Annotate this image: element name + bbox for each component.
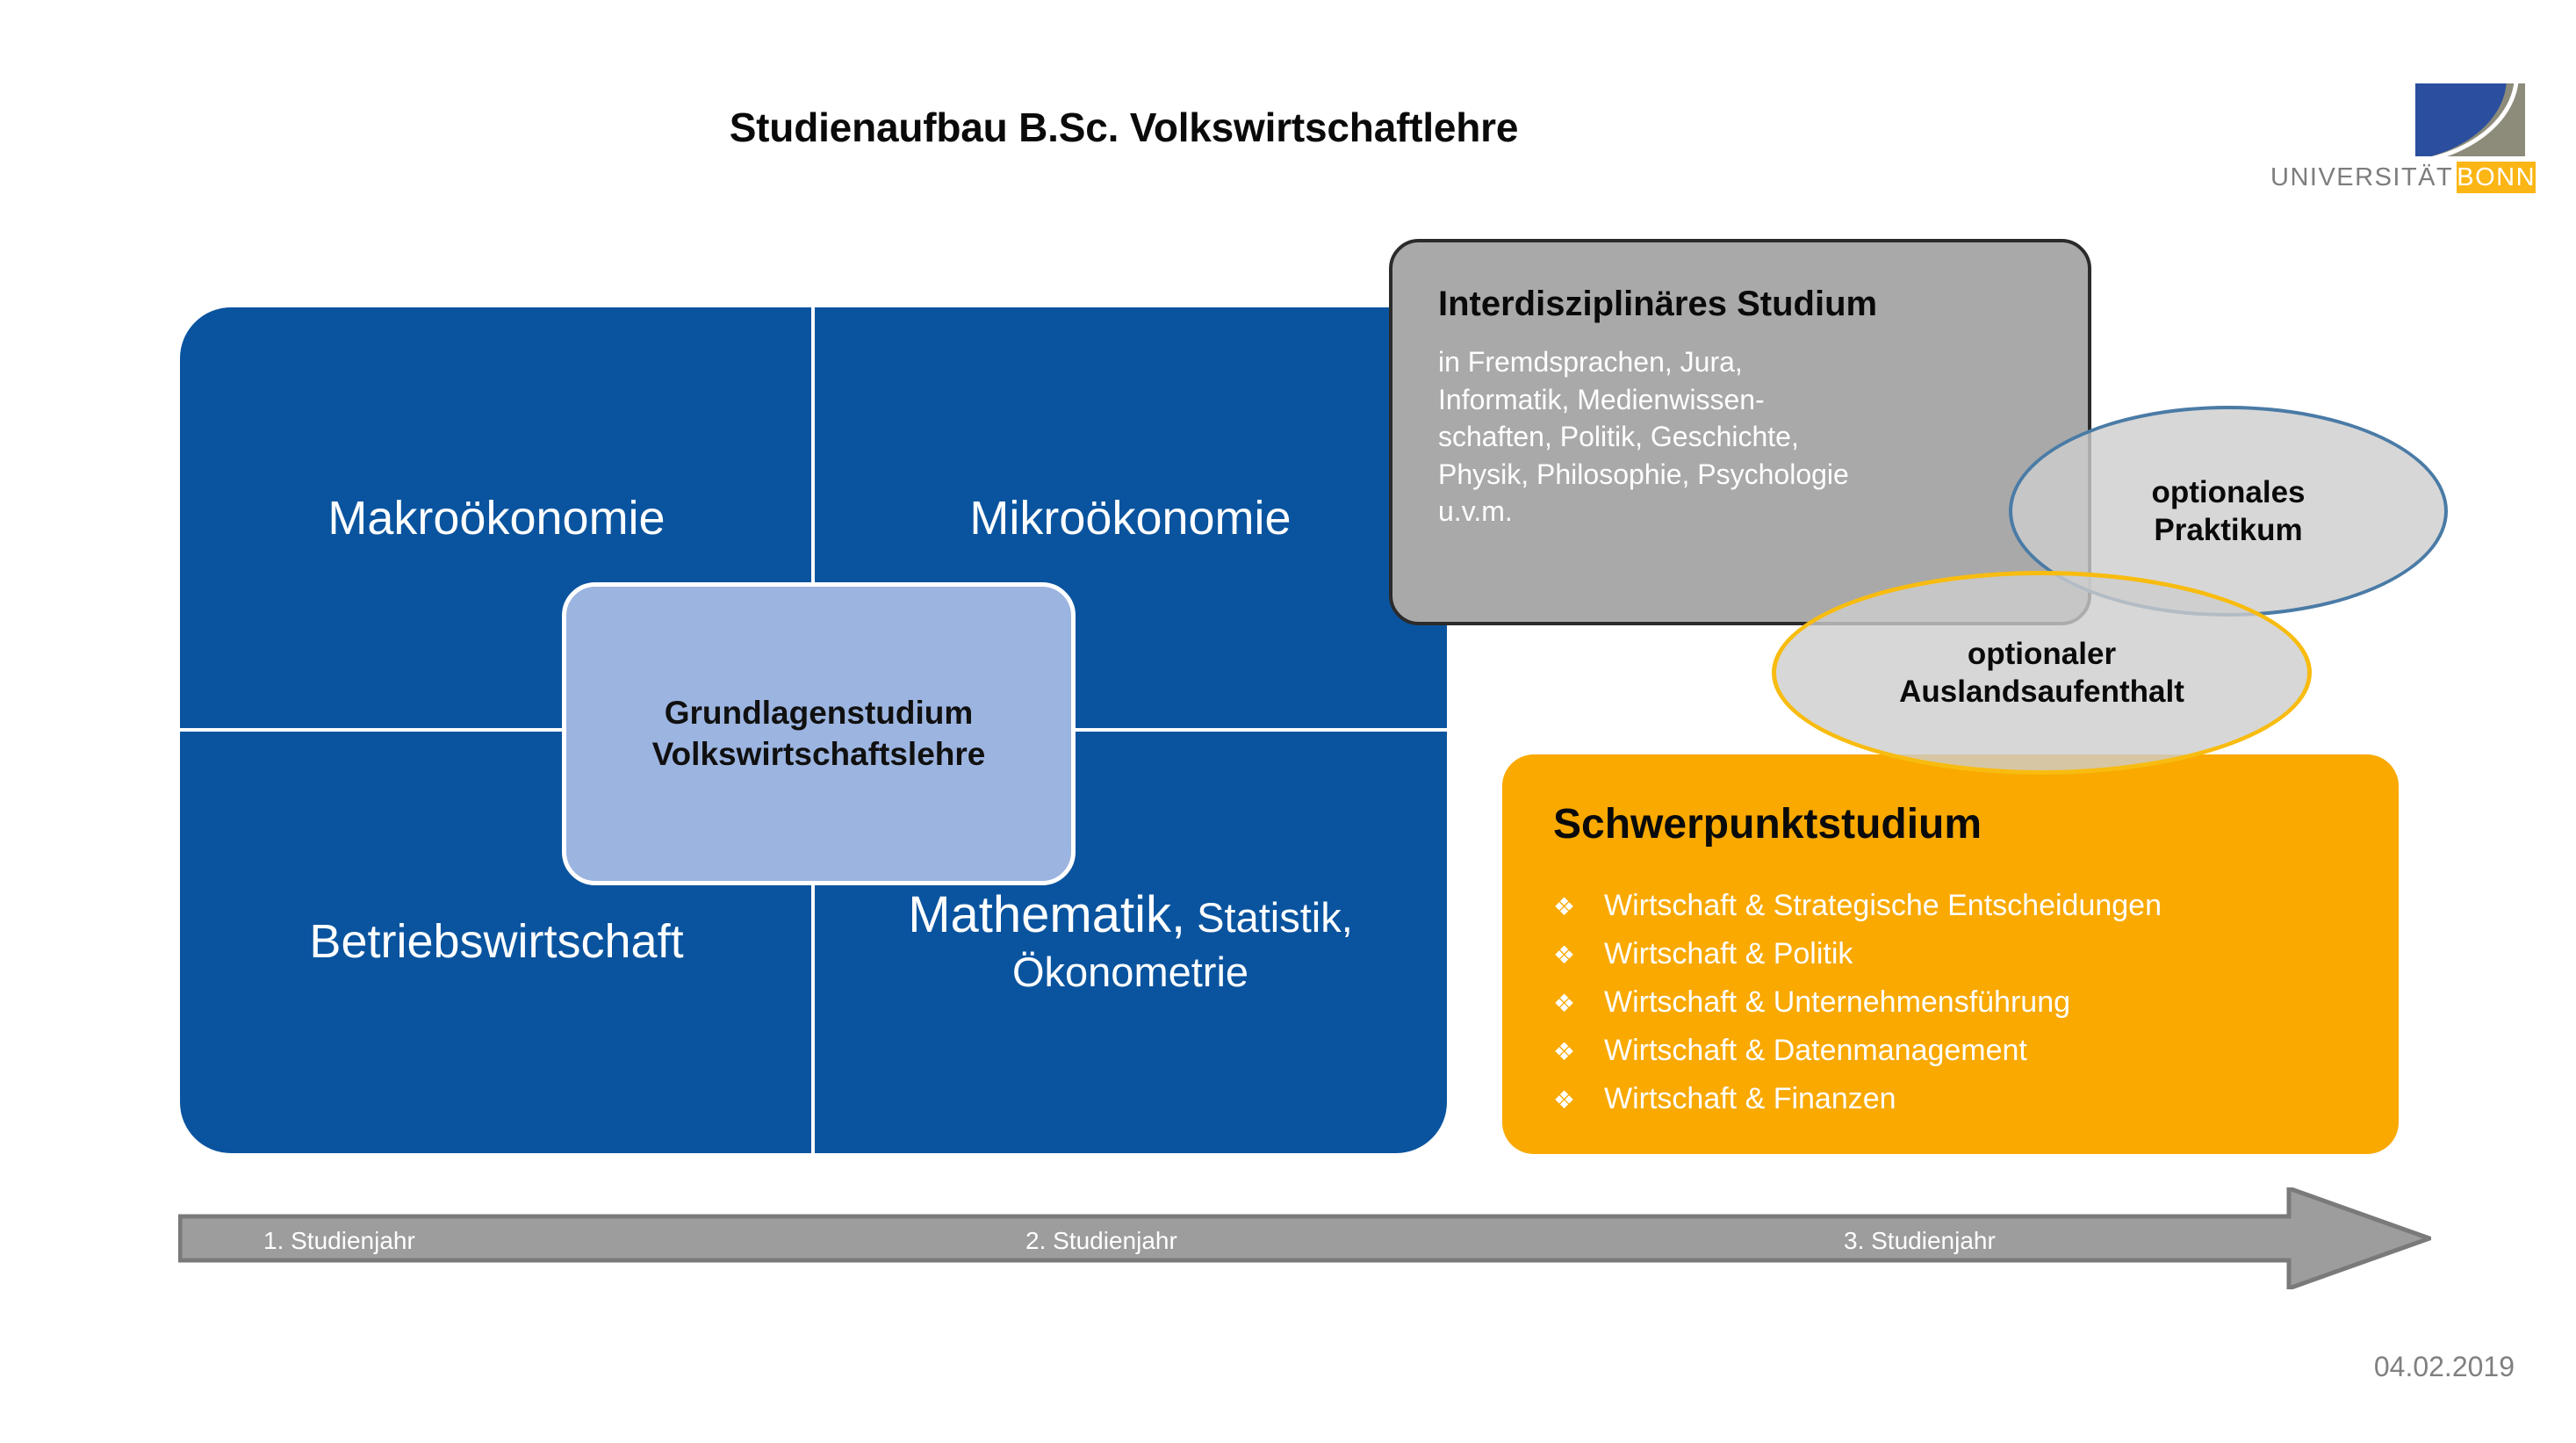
specialization-item-label: Wirtschaft & Datenmanagement (1604, 1027, 2027, 1075)
list-item: ❖ Wirtschaft & Strategische Entscheidung… (1553, 882, 2348, 930)
interdisciplinary-body-line: u.v.m. (1438, 493, 2042, 530)
list-item: ❖ Wirtschaft & Datenmanagement (1553, 1027, 2348, 1075)
quadrant-mikrooekonomie-label: Mikroökonomie (969, 492, 1291, 545)
date-stamp: 04.02.2019 (2374, 1351, 2515, 1383)
quadrant-betriebswirtschaft-label: Betriebswirtschaft (309, 915, 683, 968)
interdisciplinary-body: in Fremdsprachen, Jura, Informatik, Medi… (1438, 343, 2042, 530)
logo-wordmark: UNIVERSITÄT BONN (2270, 162, 2525, 193)
timeline-label-year-3: 3. Studienjahr (1844, 1227, 1996, 1255)
timeline-arrow-icon (178, 1187, 2431, 1289)
logo-mark-icon (2415, 83, 2525, 156)
diamond-bullet-icon: ❖ (1553, 1032, 1604, 1071)
option-ellipse-auslandsaufenthalt: optionaler Auslandsaufenthalt (1772, 571, 2312, 775)
timeline-label-year-1: 1. Studienjahr (263, 1227, 415, 1255)
interdisciplinary-body-line: Informatik, Medienwissen- (1438, 381, 2042, 419)
diamond-bullet-icon: ❖ (1553, 887, 1604, 927)
quadrant-makrooekonomie-label: Makroökonomie (327, 492, 665, 545)
list-item: ❖ Wirtschaft & Unternehmensführung (1553, 978, 2348, 1027)
list-item: ❖ Wirtschaft & Politik (1553, 930, 2348, 978)
logo-universitaet-text: UNIVERSITÄT (2270, 162, 2457, 193)
option-praktikum-line-1: optionales (2151, 475, 2305, 509)
option-ausland-line-1: optionaler (1968, 637, 2116, 671)
specialization-title: Schwerpunktstudium (1553, 800, 2348, 848)
timeline-arrow (178, 1187, 2431, 1289)
university-bonn-logo: UNIVERSITÄT BONN (2270, 83, 2525, 193)
core-grundlagenstudium-box: Grundlagenstudium Volkswirtschaftslehre (562, 582, 1076, 885)
logo-bonn-text: BONN (2457, 162, 2536, 193)
interdisciplinary-body-line: schaften, Politik, Geschichte, (1438, 418, 2042, 456)
diamond-bullet-icon: ❖ (1553, 935, 1604, 975)
diamond-bullet-icon: ❖ (1553, 1080, 1604, 1120)
specialization-item-label: Wirtschaft & Unternehmensführung (1604, 978, 2070, 1027)
specialization-list: ❖ Wirtschaft & Strategische Entscheidung… (1553, 882, 2348, 1123)
interdisciplinary-title: Interdisziplinäres Studium (1438, 285, 2042, 324)
list-item: ❖ Wirtschaft & Finanzen (1553, 1075, 2348, 1123)
page-title: Studienaufbau B.Sc. Volkswirtschaftlehre (0, 104, 2248, 151)
option-ausland-line-2: Auslandsaufenthalt (1899, 675, 2184, 709)
logo-white-arc-shape (2415, 83, 2519, 156)
specialization-item-label: Wirtschaft & Finanzen (1604, 1075, 1896, 1123)
quadrant-math-label-primary: Mathematik, (908, 886, 1185, 943)
specialization-item-label: Wirtschaft & Politik (1604, 930, 1853, 978)
interdisciplinary-body-line: in Fremdsprachen, Jura, (1438, 343, 2042, 381)
timeline-label-year-2: 2. Studienjahr (1025, 1227, 1177, 1255)
core-line-1: Grundlagenstudium (665, 693, 974, 733)
specialization-item-label: Wirtschaft & Strategische Entscheidungen (1604, 882, 2162, 930)
specialization-box: Schwerpunktstudium ❖ Wirtschaft & Strate… (1502, 754, 2399, 1154)
core-line-2: Volkswirtschaftslehre (652, 734, 986, 775)
diamond-bullet-icon: ❖ (1553, 984, 1604, 1023)
interdisciplinary-body-line: Physik, Philosophie, Psychologie (1438, 456, 2042, 494)
option-praktikum-line-2: Praktikum (2154, 513, 2302, 547)
interdisciplinary-studies-box: Interdisziplinäres Studium in Fremdsprac… (1389, 239, 2091, 625)
